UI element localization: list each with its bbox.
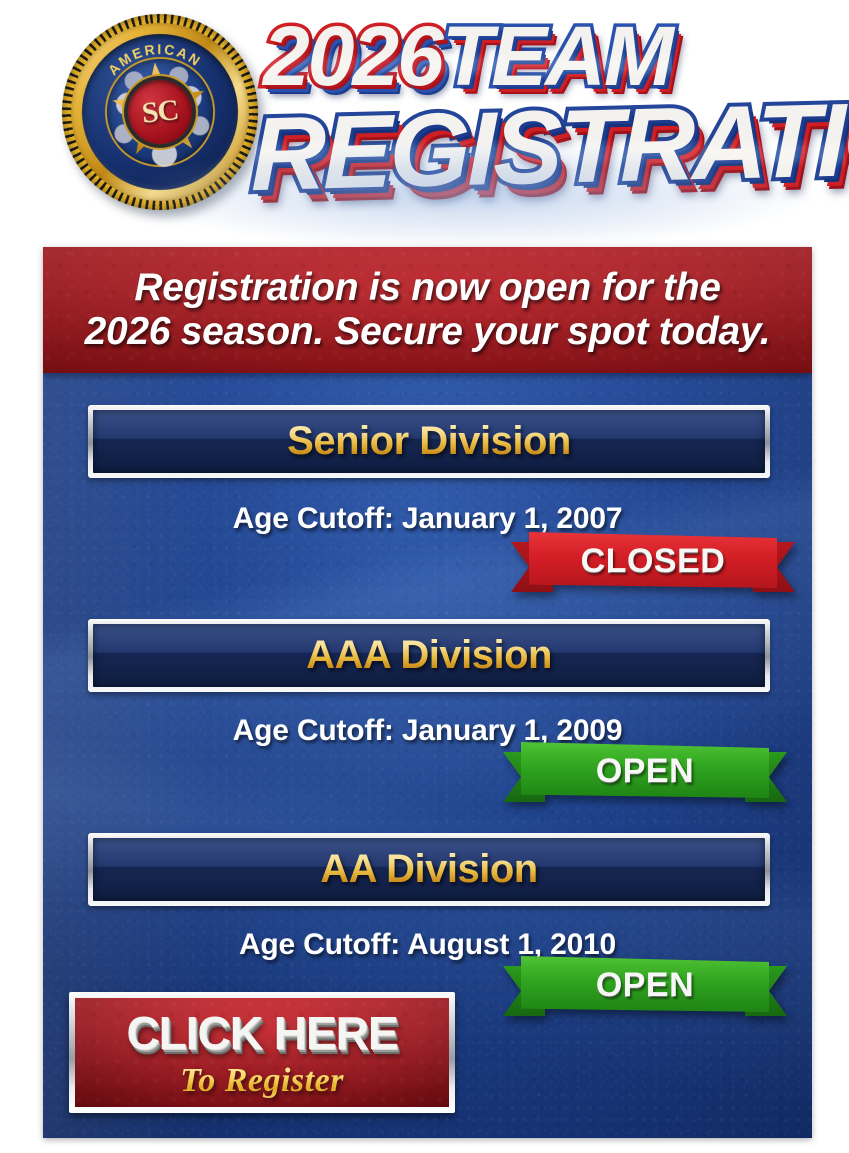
status-badge-aa: OPEN [521, 956, 769, 1018]
division-header-bar-aa: AA Division [88, 833, 770, 906]
registration-panel: Registration is now open for the 2026 se… [43, 247, 812, 1138]
division-name-senior: Senior Division [287, 419, 571, 464]
status-label-senior: CLOSED [581, 542, 726, 581]
status-label-aa: OPEN [596, 966, 694, 1005]
division-header-bar-senior: Senior Division [88, 405, 770, 478]
title-line-one: 2026TEAM [263, 14, 672, 98]
title-registration: REGISTRATION [251, 85, 849, 207]
title-year: 2026 [263, 9, 442, 103]
division-name-aa: AA Division [320, 847, 538, 892]
status-badge-aaa: OPEN [521, 742, 769, 804]
american-legion-sc-baseball-emblem-icon: AMERICAN BASEBALL SC [52, 4, 267, 219]
division-header-inner-aa: AA Division [93, 838, 765, 901]
click-here-to-register-button[interactable]: CLICK HERE To Register [69, 992, 455, 1113]
status-label-aaa: OPEN [596, 752, 694, 791]
division-header-inner-senior: Senior Division [93, 410, 765, 473]
cta-inner-face: CLICK HERE To Register [75, 998, 449, 1107]
emblem-center-text: SC [140, 93, 180, 131]
announcement-banner: Registration is now open for the 2026 se… [43, 247, 812, 373]
division-name-aaa: AAA Division [306, 633, 552, 678]
division-header-bar-aaa: AAA Division [88, 619, 770, 692]
status-badge-senior: CLOSED [529, 532, 777, 594]
division-header-inner-aaa: AAA Division [93, 624, 765, 687]
poster-header: AMERICAN BASEBALL SC 2026TEAM REGISTRATI… [0, 0, 849, 240]
division-cutoff-senior: Age Cutoff: January 1, 2007 [43, 502, 812, 536]
announcement-line-2: 2026 season. Secure your spot today. [85, 310, 771, 354]
cta-sub-label: To Register [180, 1062, 344, 1100]
cta-main-label: CLICK HERE [126, 1006, 397, 1060]
announcement-line-1: Registration is now open for the [134, 266, 720, 310]
poster-title: 2026TEAM REGISTRATION [255, 8, 845, 233]
